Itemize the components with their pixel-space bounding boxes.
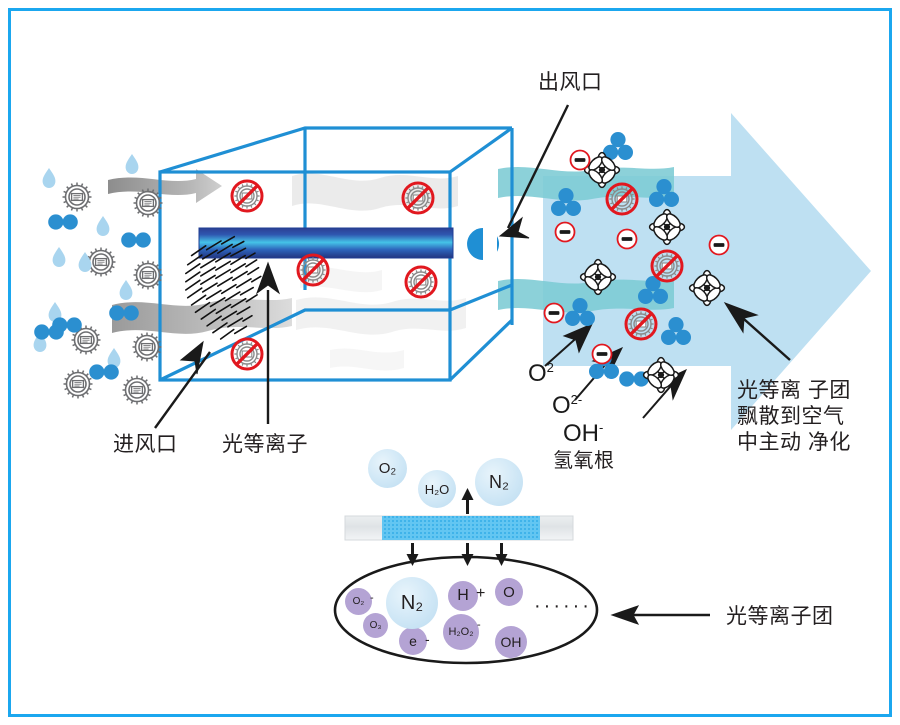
cluster-species-7: OH bbox=[495, 626, 527, 658]
gas-bubble-1: H₂O bbox=[418, 470, 456, 508]
cluster-species-4: H bbox=[448, 581, 478, 611]
label-disperse-line3: 中主动 净化 bbox=[737, 430, 851, 456]
cluster-species-0: O₂ bbox=[345, 588, 372, 615]
label-plasma-cluster: 光等离子团 bbox=[726, 604, 834, 630]
gas-bubble-2: N₂ bbox=[475, 458, 523, 506]
ellipsis-label: ······ bbox=[534, 595, 592, 618]
cluster-species-1: O₃ bbox=[363, 613, 388, 638]
label-disperse-line1: 光等离 子团 bbox=[737, 378, 851, 404]
label-disperse-line2: 飘散到空气 bbox=[737, 404, 845, 430]
cluster-species-2: e bbox=[399, 627, 427, 655]
cluster-species-6: O bbox=[495, 578, 523, 606]
label-inlet: 进风口 bbox=[113, 432, 178, 458]
cluster-species-5: H₂O₂ bbox=[443, 614, 479, 650]
diagram-canvas: 出风口 进风口 光等离子 光等离 子团 飘散到空气 中主动 净化 光等离子团 氢… bbox=[0, 0, 900, 725]
cluster-species-5-charge: - bbox=[477, 619, 481, 631]
cluster-species-2-charge: - bbox=[425, 631, 430, 647]
contaminant-field-left bbox=[34, 154, 163, 405]
label-hydroxide-cn: 氢氧根 bbox=[553, 448, 615, 474]
gas-bubble-0: O₂ bbox=[368, 449, 407, 488]
callout-oh-minus: OH- bbox=[563, 420, 603, 448]
callout-o2-minus: O2- bbox=[552, 392, 582, 420]
callout-o2: O2 bbox=[528, 360, 554, 388]
cluster-species-3: N₂ bbox=[386, 577, 438, 629]
outlet-nozzle bbox=[467, 228, 499, 260]
cluster-species-0-charge: - bbox=[370, 592, 374, 604]
label-outlet: 出风口 bbox=[538, 70, 603, 96]
cluster-species-4-charge: + bbox=[476, 585, 485, 603]
label-plasma: 光等离子 bbox=[222, 432, 308, 458]
electrode-plate-module bbox=[345, 488, 573, 566]
